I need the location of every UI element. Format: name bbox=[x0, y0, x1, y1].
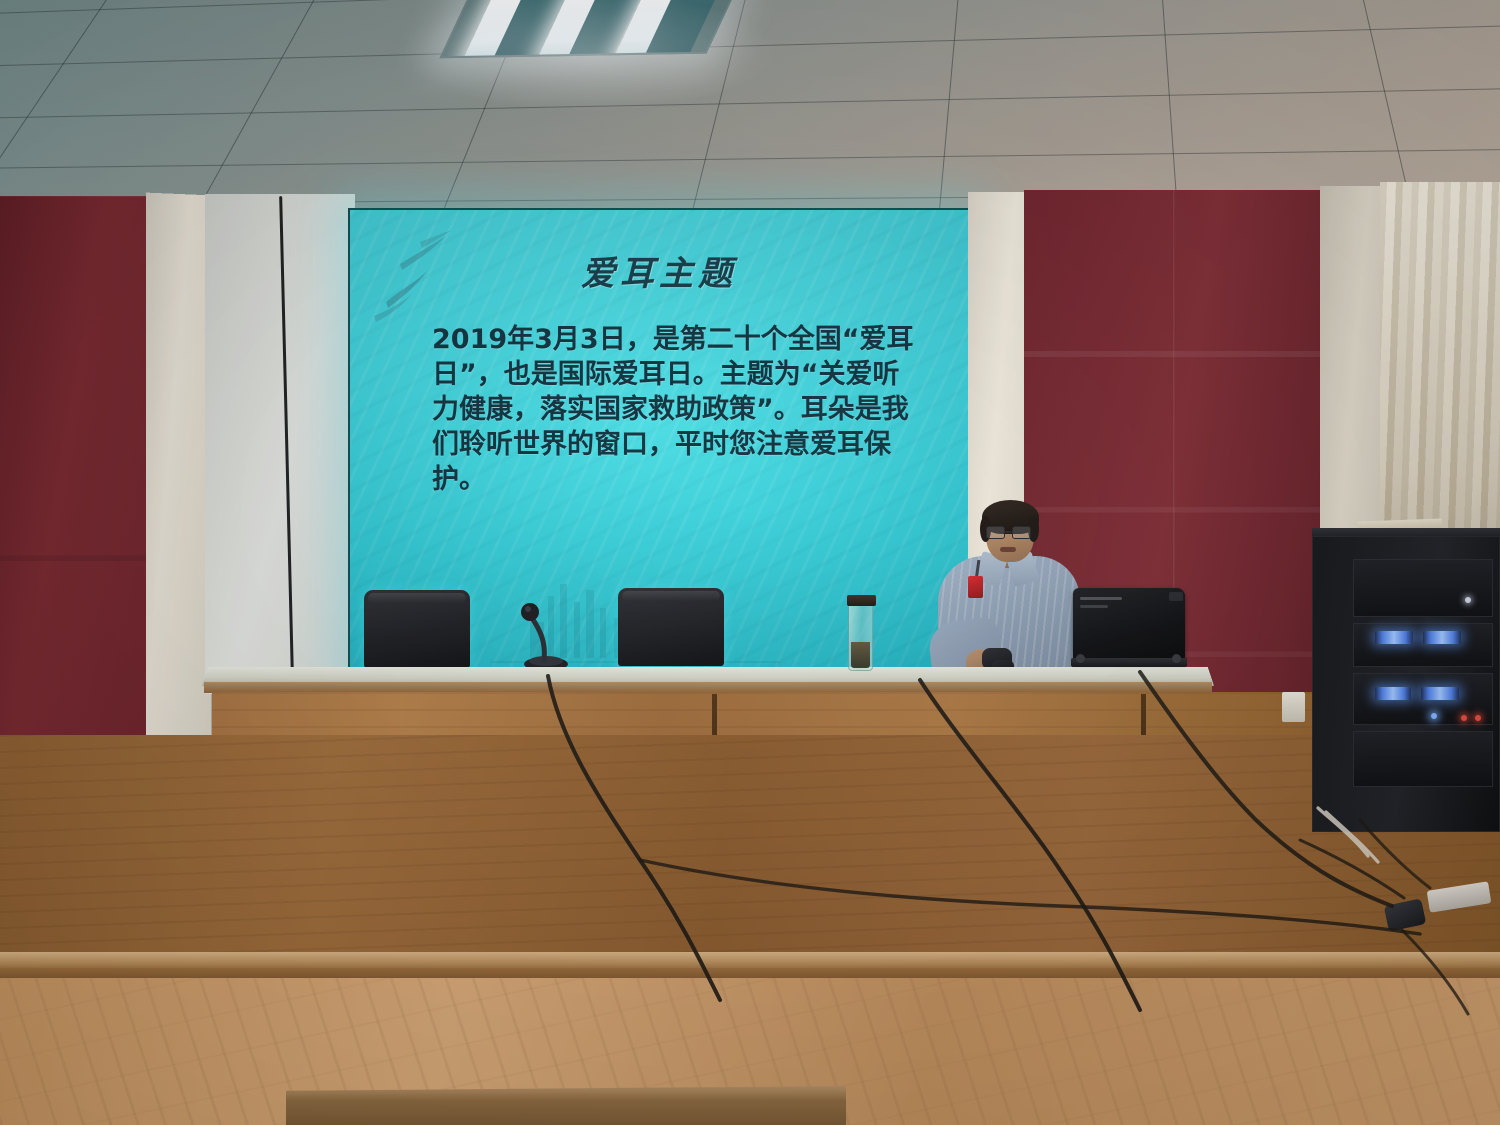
eyeglass-lens bbox=[1012, 526, 1031, 539]
stage-front-face bbox=[0, 735, 1500, 970]
ceiling bbox=[0, 0, 1500, 212]
rack-bay bbox=[1353, 559, 1493, 617]
rack-led-display bbox=[1423, 631, 1461, 644]
chair-highlight bbox=[368, 593, 466, 603]
slide-title: 爱耳主题 bbox=[350, 246, 968, 295]
id-badge bbox=[968, 576, 983, 598]
rack-status-led bbox=[1465, 597, 1471, 603]
rack-led-display bbox=[1375, 687, 1411, 700]
rack-bay bbox=[1353, 623, 1493, 667]
laptop-corner-detail bbox=[1169, 592, 1183, 601]
chair-left bbox=[364, 590, 470, 668]
rack-led-display bbox=[1421, 687, 1459, 700]
cup-lid bbox=[847, 595, 876, 606]
thermos-cup bbox=[848, 603, 873, 671]
rack-led-display bbox=[1375, 631, 1413, 644]
conference-room-photo: 爱耳主题 2019年3月3日，是第二十个全国“爱耳日”，也是国际爱耳日。主题为“… bbox=[0, 0, 1500, 1125]
rack-bay bbox=[1353, 731, 1493, 787]
laptop-label bbox=[1080, 605, 1108, 608]
laptop-foot bbox=[1076, 654, 1085, 663]
chair-highlight bbox=[622, 591, 720, 601]
eyeglasses-icon bbox=[986, 526, 1035, 539]
rack-status-led bbox=[1431, 713, 1437, 719]
laptop-lid bbox=[1073, 588, 1185, 662]
laptop-foot bbox=[1172, 654, 1181, 663]
rack-status-led-red bbox=[1461, 715, 1467, 721]
ceiling-light-fixture bbox=[439, 0, 735, 58]
laptop-label bbox=[1080, 597, 1122, 600]
chair-center bbox=[618, 588, 724, 666]
slide-body-text: 2019年3月3日，是第二十个全国“爱耳日”，也是国际爱耳日。主题为“关爱听力健… bbox=[432, 322, 914, 497]
cup-contents bbox=[851, 642, 870, 668]
rack-status-led-red bbox=[1475, 715, 1481, 721]
foreground-step bbox=[286, 1092, 846, 1125]
laptop bbox=[1073, 588, 1185, 670]
desk-edge-lip bbox=[204, 682, 1212, 693]
wall-power-socket bbox=[1282, 692, 1305, 722]
laptop-hinge bbox=[1071, 658, 1187, 667]
wall-panel-maroon-left bbox=[0, 196, 146, 741]
av-equipment-rack bbox=[1312, 536, 1500, 832]
eyeglass-lens bbox=[986, 526, 1005, 539]
presenter-mouth bbox=[1000, 547, 1016, 552]
